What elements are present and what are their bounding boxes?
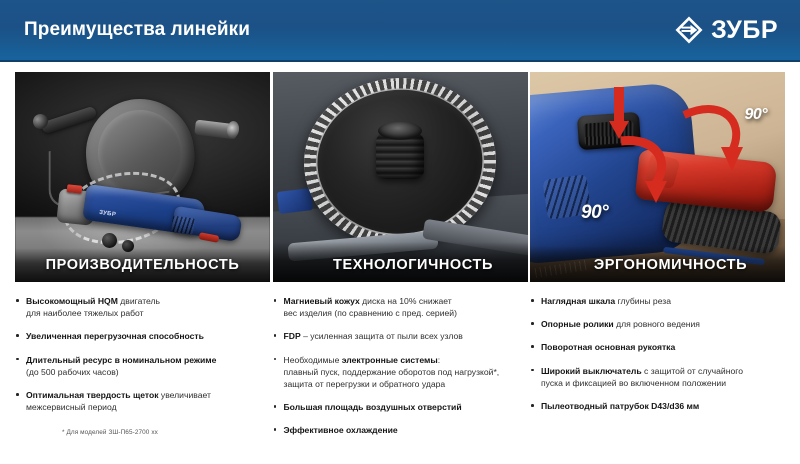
red-arrow-rotate-left-icon [617, 135, 673, 205]
feature-item: Широкий выключатель с защитой от случайн… [530, 365, 785, 389]
feature-item: FDP – усиленная защита от пыли всех узло… [273, 330, 528, 342]
feature-bold-text: Магниевый кожух [284, 296, 360, 306]
feature-item: Увеличенная перегрузочная способность [15, 330, 270, 342]
feature-column-ergonomics: 90° 90° ЭРГОНОМИЧНОСТЬ Наглядная шкала г… [530, 72, 785, 464]
feature-bold-text: Большая площадь воздушных отверстий [284, 402, 462, 412]
feature-bold-text: Пылеотводный патрубок D43/d36 мм [541, 401, 699, 411]
feature-bold-text: FDP [284, 331, 301, 341]
photo-caption-technology: ТЕХНОЛОГИЧНОСТЬ [273, 257, 528, 273]
feature-rest-text: – усиленная защита от пыли всех узлов [301, 331, 463, 341]
front-handle-shape [40, 106, 97, 135]
feature-item: Поворотная основная рукоятка [530, 341, 785, 353]
feature-bold-text: Опорные ролики [541, 319, 614, 329]
feature-list-performance: Высокомощный HQM двигатель для наиболее … [15, 295, 270, 424]
feature-line2-text: вес изделия (по сравнению с пред. серией… [284, 308, 457, 318]
feature-bold-text: Длительный ресурс в номинальном режиме [26, 355, 216, 365]
angle-label-right: 90° [744, 106, 767, 124]
feature-item: Необходимые электронные системы: плавный… [273, 354, 528, 391]
page-header: Преимущества линейки ЗУБР [0, 0, 800, 62]
brand-logo: ЗУБР [674, 15, 778, 45]
feature-item: Высокомощный HQM двигатель для наиболее … [15, 295, 270, 319]
spindle-nut-top-shape [378, 122, 422, 140]
feature-rest-text: двигатель [118, 296, 160, 306]
feature-line2-text: межсервисный период [26, 402, 117, 412]
page-title: Преимущества линейки [24, 19, 250, 41]
feature-line2-text: плавный пуск, поддержание оборотов под н… [284, 367, 500, 377]
footnote-text: * Для моделей ЗШ-П65-2700 хх [62, 429, 158, 436]
feature-bold-text: электронные системы [342, 355, 438, 365]
product-photo-ergonomics: 90° 90° ЭРГОНОМИЧНОСТЬ [530, 72, 785, 282]
feature-rest-text: увеличивает [159, 390, 211, 400]
feature-list-technology: Магниевый кожух диска на 10% снижает вес… [273, 295, 528, 448]
feature-item: Длительный ресурс в номинальном режиме (… [15, 354, 270, 378]
feature-column-performance: ЗУБР ПРОИЗВОДИТЕЛЬНОСТЬ Высокомощный HQM… [15, 72, 270, 464]
feature-bold-text: Поворотная основная рукоятка [541, 342, 675, 352]
product-photo-performance: ЗУБР ПРОИЗВОДИТЕЛЬНОСТЬ [15, 72, 270, 282]
feature-item: Эффективное охлаждение [273, 424, 528, 436]
feature-bold-text: Наглядная шкала [541, 296, 615, 306]
feature-column-technology: ТЕХНОЛОГИЧНОСТЬ Магниевый кожух диска на… [273, 72, 528, 464]
feature-item: Большая площадь воздушных отверстий [273, 401, 528, 413]
feature-rest-text: диска на 10% снижает [360, 296, 452, 306]
feature-columns: ЗУБР ПРОИЗВОДИТЕЛЬНОСТЬ Высокомощный HQM… [0, 62, 800, 464]
feature-bold-text: Широкий выключатель [541, 366, 642, 376]
product-photo-technology: ТЕХНОЛОГИЧНОСТЬ [273, 72, 528, 282]
feature-line2-text: (до 500 рабочих часов) [26, 367, 119, 377]
feature-item: Пылеотводный патрубок D43/d36 мм [530, 400, 785, 412]
dust-port-opening-shape [226, 121, 240, 139]
spindle-nut-shape [376, 133, 424, 179]
brand-name: ЗУБР [711, 18, 778, 43]
feature-rest-text: для ровного ведения [614, 319, 700, 329]
feature-bold-text: Высокомощный HQM [26, 296, 118, 306]
feature-line2-text: для наиболее тяжелых работ [26, 308, 144, 318]
blue-accent-shape [276, 188, 312, 214]
feature-prefix-text: Необходимые [284, 355, 342, 365]
feature-line2-text: пуска и фиксацией во включенном положени… [541, 378, 726, 388]
feature-bold-text: Оптимальная твердость щеток [26, 390, 159, 400]
red-arrow-rotate-right-icon [680, 101, 748, 173]
feature-bold-text: Эффективное охлаждение [284, 425, 398, 435]
feature-item: Наглядная шкала глубины реза [530, 295, 785, 307]
feature-line3-text: защита от перегрузки и обратного удара [284, 379, 446, 389]
feature-bold-text: Увеличенная перегрузочная способность [26, 331, 204, 341]
feature-item: Опорные ролики для ровного ведения [530, 318, 785, 330]
angle-label-left: 90° [581, 202, 608, 224]
feature-rest-text: : [438, 355, 440, 365]
photo-caption-ergonomics: ЭРГОНОМИЧНОСТЬ [530, 257, 785, 273]
photo-caption-performance: ПРОИЗВОДИТЕЛЬНОСТЬ [15, 257, 270, 273]
feature-rest-text: с защитой от случайного [642, 366, 743, 376]
feature-item: Оптимальная твердость щеток увеличивает … [15, 389, 270, 413]
feature-rest-text: глубины реза [615, 296, 671, 306]
feature-item: Магниевый кожух диска на 10% снижает вес… [273, 295, 528, 319]
content-area: ЗУБР ПРОИЗВОДИТЕЛЬНОСТЬ Высокомощный HQM… [0, 62, 800, 450]
feature-list-ergonomics: Наглядная шкала глубины реза Опорные рол… [530, 295, 785, 423]
vent-slots-shape [170, 215, 194, 234]
zubr-arrow-logo-icon [674, 15, 704, 45]
red-arrow-down-icon [609, 87, 629, 139]
